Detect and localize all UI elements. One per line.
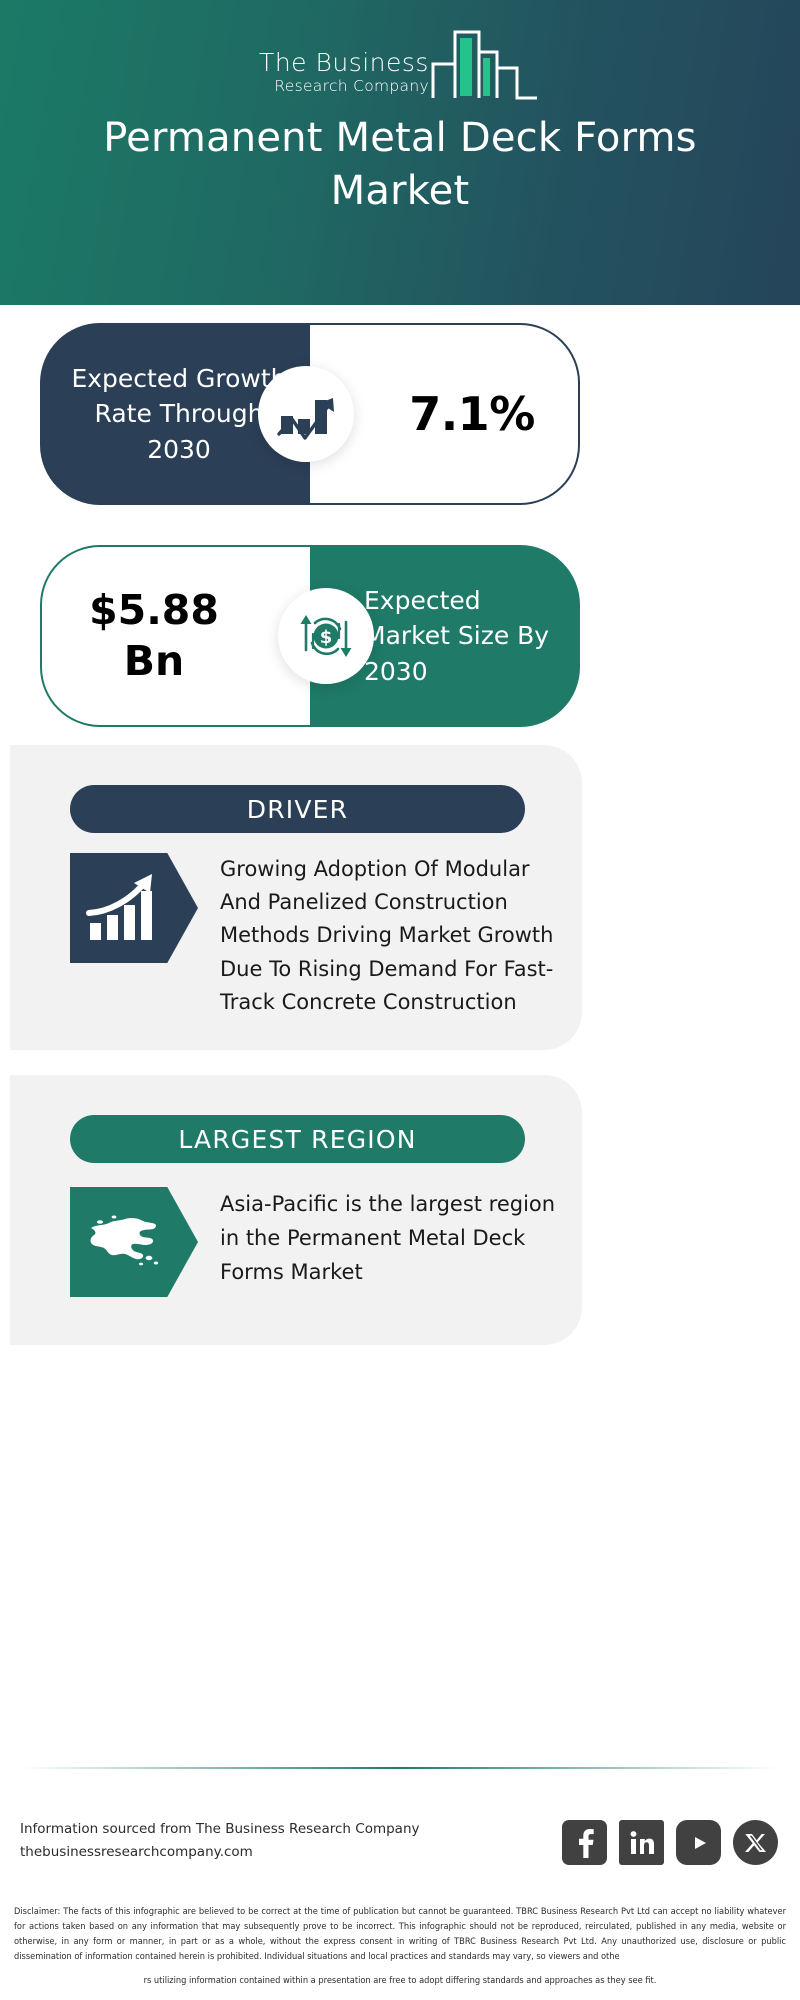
stat-card-market-size: $5.88 Bn Expected Market Size By 2030 $: [40, 545, 580, 727]
logo-line-1: The Business: [259, 50, 429, 76]
largest-region-text: Asia-Pacific is the largest region in th…: [220, 1187, 575, 1297]
source-line-1: Information sourced from The Business Re…: [20, 1818, 490, 1841]
source-website-link[interactable]: thebusinessresearchcompany.com: [20, 1841, 490, 1864]
youtube-icon[interactable]: [676, 1820, 721, 1865]
largest-region-body: Asia-Pacific is the largest region in th…: [70, 1187, 575, 1297]
stat-card-market-size-value-line2: Bn: [89, 636, 219, 687]
company-logo: The Business Research Company: [0, 22, 800, 102]
largest-region-panel: LARGEST REGION Asia-Pacific is the large…: [10, 1075, 582, 1345]
page-title: Permanent Metal Deck Forms Market: [50, 112, 750, 218]
stat-card-growth-rate-value: 7.1%: [353, 387, 535, 441]
x-twitter-icon[interactable]: [733, 1820, 778, 1865]
source-attribution: Information sourced from The Business Re…: [20, 1818, 490, 1864]
driver-heading-label: DRIVER: [247, 795, 348, 824]
driver-body: Growing Adoption Of Modular And Panelize…: [70, 853, 575, 1019]
bar-chart-logo-mark: [431, 22, 541, 102]
infographic-page: The Business Research Company Permanent …: [0, 0, 800, 2000]
driver-panel: DRIVER Growing Adoption Of Modular And P…: [10, 745, 582, 1050]
stat-card-growth-rate: Expected Growth Rate Through 2030 7.1%: [40, 323, 580, 505]
logo-line-2: Research Company: [259, 77, 429, 96]
asia-pacific-map-icon: [70, 1187, 198, 1297]
footer-divider: [22, 1767, 778, 1769]
facebook-icon[interactable]: [562, 1820, 607, 1865]
disclaimer-text: Disclaimer: The facts of this infographi…: [14, 1905, 786, 1965]
dollar-circulation-icon: $: [278, 588, 374, 684]
stat-card-market-size-value-panel: $5.88 Bn: [40, 545, 310, 727]
driver-text: Growing Adoption Of Modular And Panelize…: [220, 853, 575, 1019]
stat-card-market-size-value: $5.88 Bn: [89, 585, 263, 688]
largest-region-heading-label: LARGEST REGION: [178, 1125, 416, 1154]
linkedin-icon[interactable]: [619, 1820, 664, 1865]
stat-card-market-size-value-line1: $5.88: [89, 585, 219, 636]
header-banner: The Business Research Company Permanent …: [0, 0, 800, 305]
driver-heading-pill: DRIVER: [70, 785, 525, 833]
largest-region-heading-pill: LARGEST REGION: [70, 1115, 525, 1163]
rising-bar-chart-arrow-icon: [70, 853, 198, 963]
social-links: [562, 1820, 778, 1865]
growth-bar-chart-icon: [258, 366, 354, 462]
svg-text:$: $: [320, 627, 333, 648]
disclaimer-text-tail: rs utilizing information contained withi…: [14, 1974, 786, 1989]
logo-wordmark: The Business Research Company: [259, 50, 429, 102]
